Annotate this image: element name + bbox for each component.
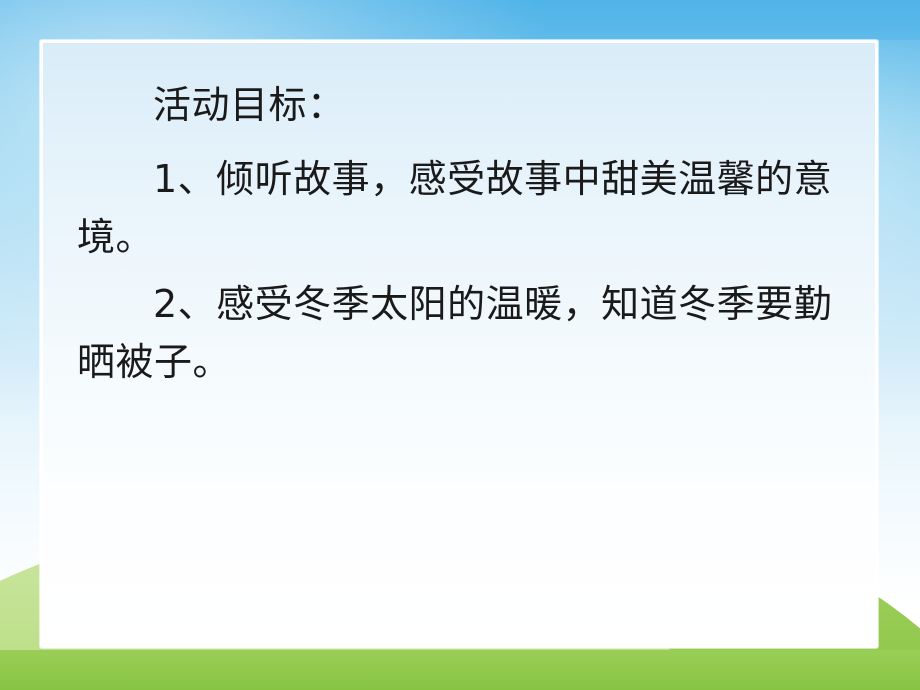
slide-heading: 活动目标：: [77, 77, 841, 135]
content-text-block: 活动目标： 1、倾听故事，感受故事中甜美温馨的意境。 2、感受冬季太阳的温暖，知…: [77, 77, 841, 392]
objective-item-2: 2、感受冬季太阳的温暖，知道冬季要勤晒被子。: [77, 276, 841, 392]
slide-canvas: 活动目标： 1、倾听故事，感受故事中甜美温馨的意境。 2、感受冬季太阳的温暖，知…: [0, 0, 920, 690]
content-card: 活动目标： 1、倾听故事，感受故事中甜美温馨的意境。 2、感受冬季太阳的温暖，知…: [40, 40, 878, 648]
objective-item-1: 1、倾听故事，感受故事中甜美温馨的意境。: [77, 151, 841, 267]
hill-ground-strip: [0, 650, 920, 690]
